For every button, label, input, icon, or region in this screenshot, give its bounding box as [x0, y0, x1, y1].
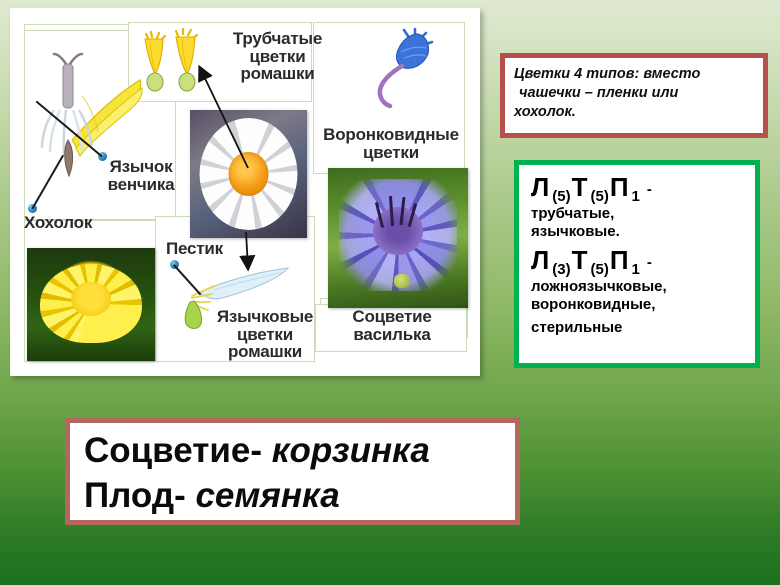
dandelion-photo	[27, 248, 155, 361]
formula-2-part-2-symbol: Т	[572, 245, 588, 275]
note-red-line-1: Цветки 4 типов: вместо	[514, 65, 755, 84]
formula-1-description-line-2: язычковые.	[531, 223, 745, 241]
cornflower-photo	[328, 168, 468, 308]
note-flower-formulas: Л(5)Т(5)П1- трубчатые, язычковые. Л(3)Т(…	[514, 160, 760, 368]
formula-1: Л(5)Т(5)П1-	[531, 174, 745, 204]
formula-2-part-2-count: (5)	[587, 261, 609, 278]
formula-2-part-1-symbol: Л	[531, 245, 549, 275]
conclusion-line-inflorescence: Соцветие- корзинка	[84, 429, 515, 474]
formula-2-description-line-3: стерильные	[531, 319, 745, 337]
flower-structure-collage: Трубчатые цветки ромашки Язычок венчика …	[10, 8, 480, 376]
conclusion-label-fruit: Плод-	[84, 476, 186, 515]
formula-1-part-3-count: 1	[629, 188, 641, 205]
caption-corolla-ligule: Язычок венчика	[94, 158, 188, 193]
caption-pappus: Хохолок	[24, 214, 114, 232]
funnel-flower-drawing	[368, 28, 440, 116]
arrow-daisy-to-ligulate	[238, 230, 262, 278]
formula-1-part-1-count: (5)	[549, 188, 571, 205]
formula-2-part-3-symbol: П	[610, 245, 629, 275]
note-red-line-2: чашечки – пленки или	[514, 84, 755, 103]
conclusion-box: Соцветие- корзинка Плод- семянка	[65, 418, 520, 525]
caption-cornflower-inflorescence: Соцветие василька	[322, 308, 462, 343]
note-four-flower-types: Цветки 4 типов: вместо чашечки – пленки …	[500, 53, 768, 138]
formula-2-dash: -	[641, 254, 652, 271]
formula-1-part-3-symbol: П	[610, 172, 629, 202]
caption-tubular-daisy: Трубчатые цветки ромашки	[215, 30, 340, 83]
conclusion-value-inflorescence: корзинка	[272, 431, 430, 470]
formula-1-part-1-symbol: Л	[531, 172, 549, 202]
formula-2: Л(3)Т(5)П1-	[531, 247, 745, 277]
conclusion-value-fruit: семянка	[195, 476, 339, 515]
caption-ligulate-daisy: Язычковые цветки ромашки	[210, 308, 320, 361]
formula-2-part-1-count: (3)	[549, 261, 571, 278]
note-red-line-3: хохолок.	[514, 103, 755, 122]
formula-2-description-line-2: воронковидные,	[531, 296, 745, 314]
formula-1-description-line-1: трубчатые,	[531, 205, 745, 223]
caption-funnel-flowers: Воронковидные цветки	[318, 126, 464, 161]
conclusion-line-fruit: Плод- семянка	[84, 474, 515, 519]
conclusion-label-inflorescence: Соцветие-	[84, 431, 262, 470]
formula-1-part-2-symbol: Т	[572, 172, 588, 202]
slide-canvas: Трубчатые цветки ромашки Язычок венчика …	[0, 0, 780, 585]
formula-1-dash: -	[641, 181, 652, 198]
formula-2-description-line-1: ложноязычковые,	[531, 278, 745, 296]
formula-2-part-3-count: 1	[629, 261, 641, 278]
formula-1-part-2-count: (5)	[587, 188, 609, 205]
caption-pistil: Пестик	[166, 240, 232, 258]
